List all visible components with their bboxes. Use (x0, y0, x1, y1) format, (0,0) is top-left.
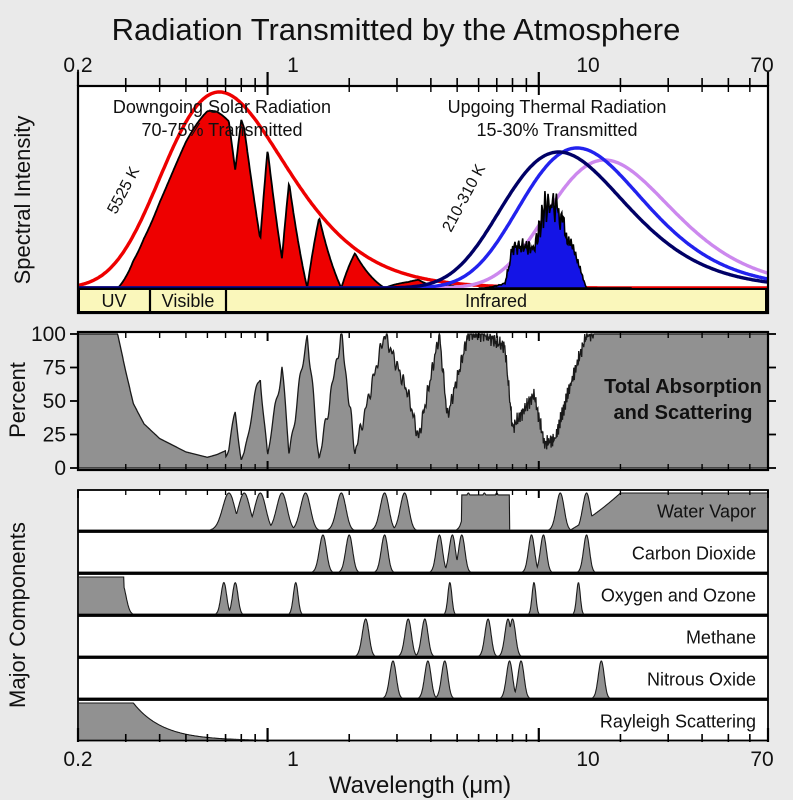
solar-annotation-line1: Downgoing Solar Radiation (113, 97, 331, 117)
absorption-caption-line2: and Scattering (614, 402, 753, 424)
component-label-water-vapor: Water Vapor (657, 501, 756, 521)
top-axis-tick-label-2: 10 (576, 54, 599, 77)
top-axis-tick-label-3: 70 (750, 54, 773, 77)
top-axis-tick-label-1: 1 (287, 54, 299, 77)
component-label-carbon-dioxide: Carbon Dioxide (632, 543, 756, 563)
percent-tick-label: 0 (54, 457, 66, 480)
solar-annotation-line2: 70-75% Transmitted (141, 120, 302, 140)
page-title: Radiation Transmitted by the Atmosphere (112, 12, 681, 47)
thermal-annotation-line2: 15-30% Transmitted (476, 120, 637, 140)
component-label-methane: Methane (686, 627, 756, 647)
panel-spectral-intensity: Spectral Intensity Downgoing Solar Radia… (10, 86, 768, 313)
component-label-nitrous-oxide: Nitrous Oxide (647, 669, 756, 689)
bottom-axis-tick-label-3: 70 (750, 748, 773, 771)
component-label-rayleigh-scattering: Rayleigh Scattering (600, 711, 756, 731)
thermal-annotation-line1: Upgoing Thermal Radiation (448, 97, 667, 117)
wavelength-band-strip: UV Visible Infrared (79, 289, 766, 312)
major-components-axis-label: Major Components (5, 522, 30, 708)
percent-axis-label: Percent (5, 362, 30, 438)
panel-major-components: Major Components Water VaporCarbon Dioxi… (5, 490, 768, 741)
absorption-caption-line1: Total Absorption (604, 376, 762, 398)
component-label-oxygen-and-ozone: Oxygen and Ozone (601, 585, 756, 605)
bottom-axis-tick-label-1: 1 (287, 748, 299, 771)
bottom-axis-tick-label-0: 0.2 (63, 748, 92, 771)
percent-tick-label: 50 (43, 390, 66, 413)
wavelength-axis-label: Wavelength (μm) (329, 772, 511, 799)
spectral-intensity-axis-label: Spectral Intensity (10, 116, 35, 285)
panel-total-absorption: Percent 0255075100 Total Absorption and … (5, 323, 776, 480)
major-component-rows: Water VaporCarbon DioxideOxygen and Ozon… (78, 490, 768, 741)
radiation-transmission-figure: Radiation Transmitted by the Atmosphere … (0, 0, 793, 800)
percent-tick-label: 100 (31, 323, 66, 346)
percent-tick-label: 25 (43, 424, 66, 447)
band-label-visible: Visible (162, 291, 215, 311)
bottom-axis-tick-label-2: 10 (576, 748, 599, 771)
percent-tick-label: 75 (43, 357, 66, 380)
band-label-uv: UV (101, 291, 126, 311)
band-label-infrared: Infrared (465, 291, 527, 311)
